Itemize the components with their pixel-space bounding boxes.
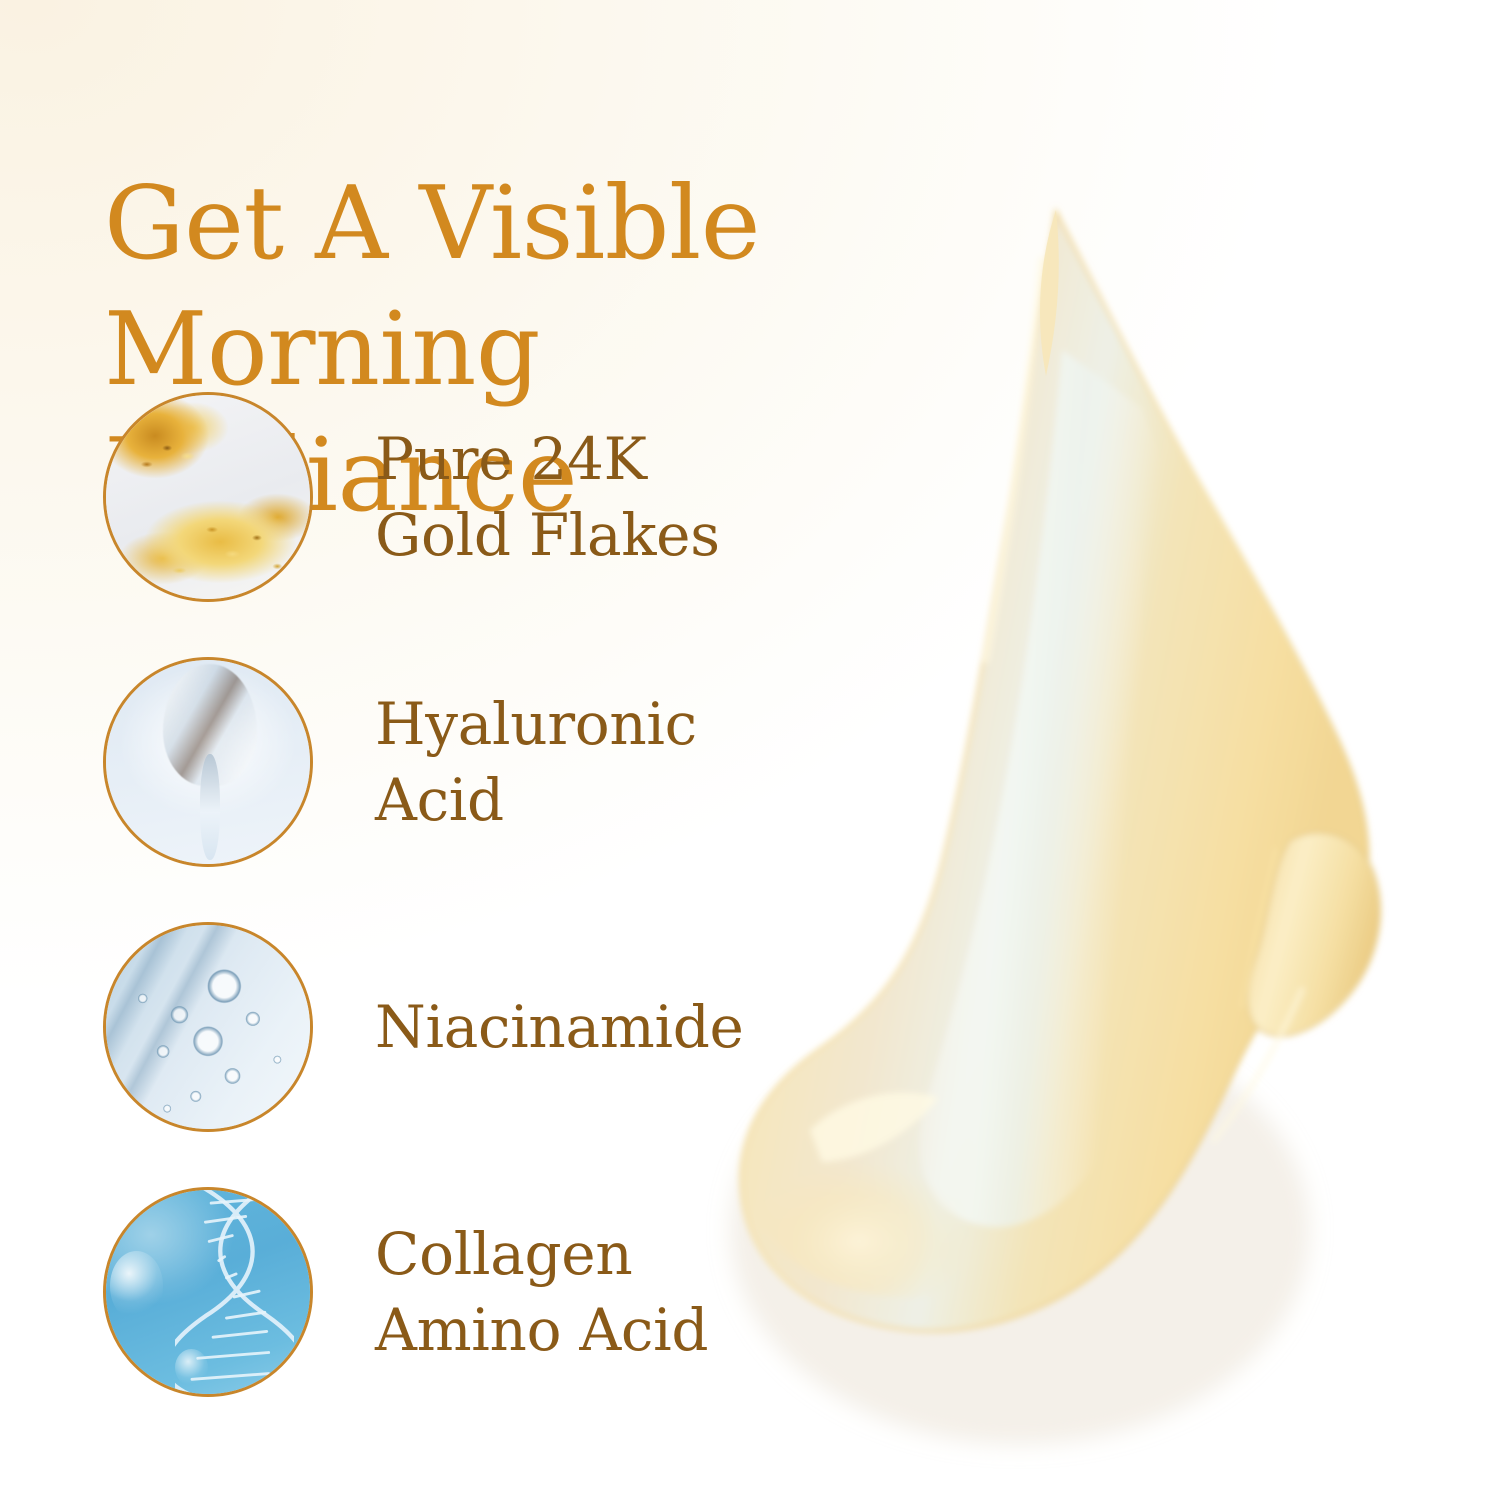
list-item: Hyaluronic Acid bbox=[0, 639, 760, 904]
ingredient-label: Collagen Amino Acid bbox=[375, 1169, 755, 1415]
gel-droplet-icon bbox=[106, 660, 310, 864]
hyaluronic-gel-droplet-photo bbox=[103, 657, 313, 867]
ingredient-label: Pure 24K Gold Flakes bbox=[375, 374, 755, 620]
dna-helix-icon bbox=[106, 1190, 310, 1394]
list-item: Collagen Amino Acid bbox=[0, 1169, 760, 1434]
promo-canvas: Get A Visible Morning Radiance Pure 24K … bbox=[0, 0, 1500, 1500]
gold-flakes-icon bbox=[106, 395, 310, 599]
ingredient-label: Hyaluronic Acid bbox=[375, 639, 755, 885]
droplet-highlight bbox=[110, 1251, 163, 1320]
water-bubbles-icon bbox=[106, 925, 310, 1129]
collagen-dna-helix-photo bbox=[103, 1187, 313, 1397]
list-item: Niacinamide bbox=[0, 904, 760, 1169]
list-item: Pure 24K Gold Flakes bbox=[0, 374, 760, 639]
gold-flakes-photo bbox=[103, 392, 313, 602]
ingredient-label: Niacinamide bbox=[375, 904, 755, 1150]
niacinamide-water-bubbles-photo bbox=[103, 922, 313, 1132]
ingredient-list: Pure 24K Gold Flakes Hyaluronic Acid Nia… bbox=[0, 374, 760, 1434]
